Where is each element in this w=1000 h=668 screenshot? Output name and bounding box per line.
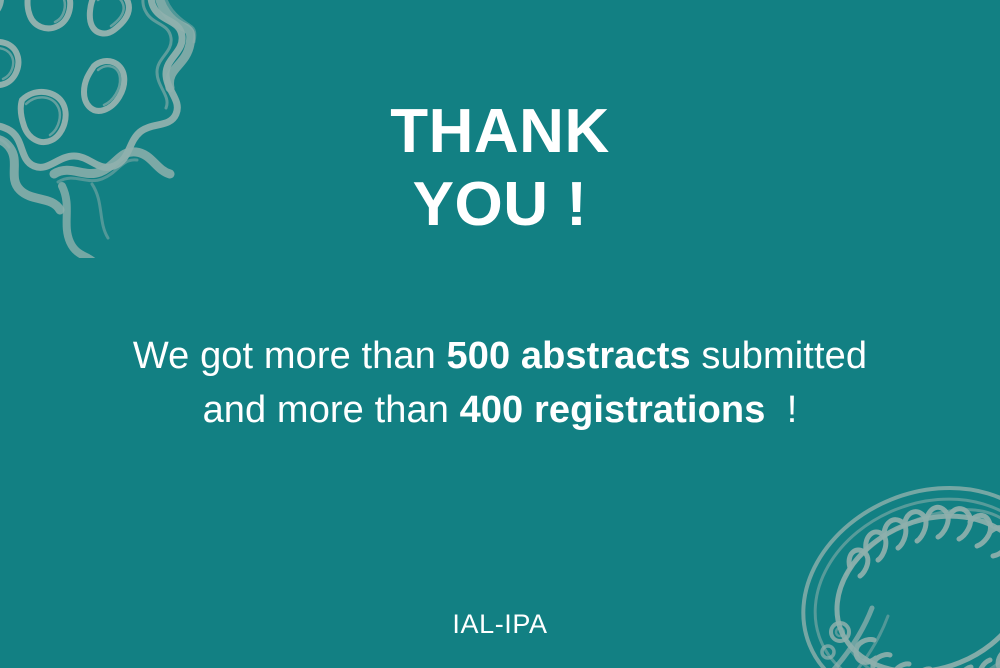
thank-you-slide: THANK YOU ! We got more than 500 abstrac… <box>0 0 1000 668</box>
body-line-1-highlight: 500 abstracts <box>447 335 691 377</box>
body-line-2-highlight: 400 registrations <box>460 389 766 431</box>
body-line-1: We got more than 500 abstracts submitted <box>0 330 1000 384</box>
body-line-1-suffix: submitted <box>691 335 867 377</box>
headline-line-2: YOU ! <box>0 169 1000 242</box>
body-copy: We got more than 500 abstracts submitted… <box>0 330 1000 438</box>
footer-organization: IAL-IPA <box>0 609 1000 640</box>
body-line-2-prefix: and more than <box>203 389 460 431</box>
body-line-2-suffix: ! <box>765 389 797 431</box>
headline-line-1: THANK <box>0 96 1000 169</box>
page-title: THANK YOU ! <box>0 96 1000 241</box>
body-line-1-prefix: We got more than <box>133 335 447 377</box>
body-line-2: and more than 400 registrations ! <box>0 384 1000 438</box>
